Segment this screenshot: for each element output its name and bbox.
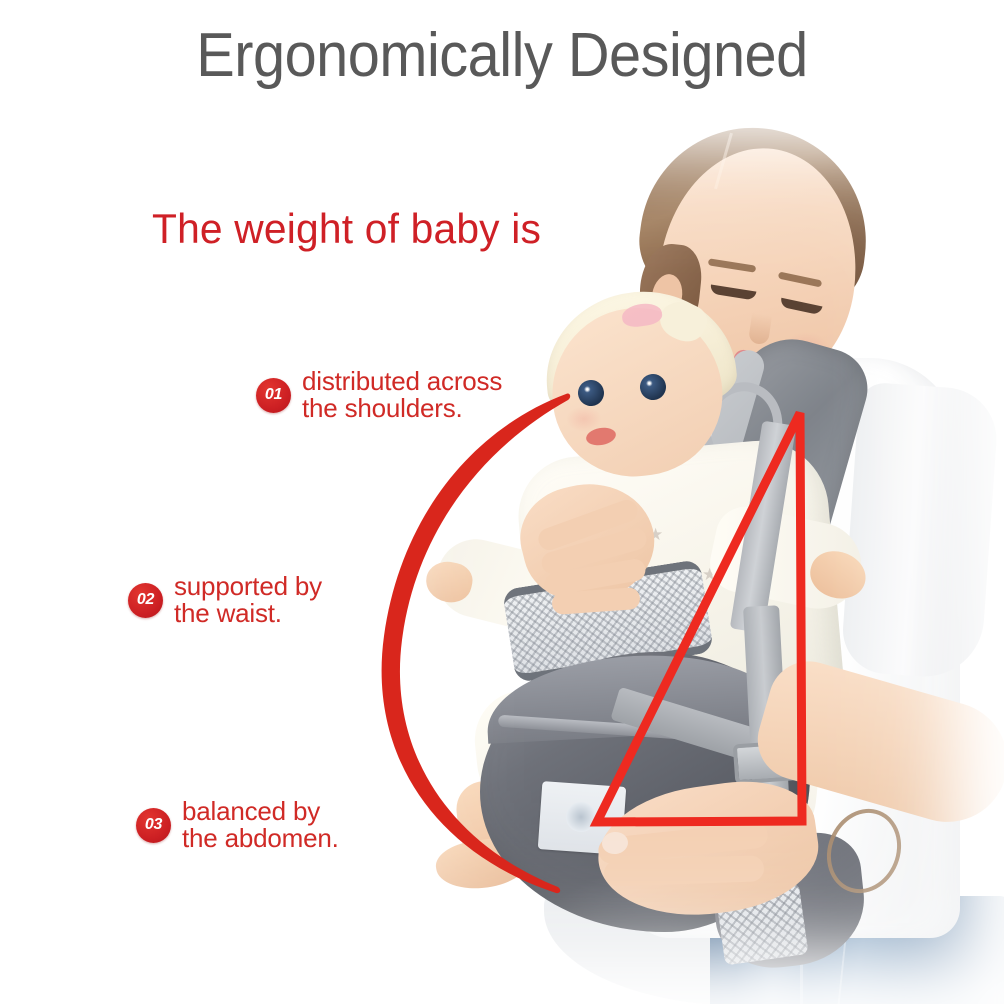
callout-line-2: the shoulders. (302, 395, 502, 422)
callout-line-2: the waist. (174, 600, 322, 627)
callout-line-1: supported by (174, 573, 322, 600)
subtitle: The weight of baby is (152, 203, 541, 255)
callout-text-03: balanced by the abdomen. (182, 798, 339, 852)
callout-badge-02: 02 (128, 583, 163, 618)
callout-text-02: supported by the waist. (174, 573, 322, 627)
callout-line-2: the abdomen. (182, 825, 339, 852)
callout-03: 03 balanced by the abdomen. (136, 798, 339, 852)
callout-badge-01: 01 (256, 378, 291, 413)
product-feature-image: ★ ★ ★ ★ ★ ★ ★ ★ ★ (0, 0, 1004, 1004)
callout-badge-03: 03 (136, 808, 171, 843)
callout-line-1: distributed across (302, 368, 502, 395)
tshirt-sleeve-right (840, 381, 1000, 680)
callout-text-01: distributed across the shoulders. (302, 368, 502, 422)
callout-01: 01 distributed across the shoulders. (256, 368, 502, 422)
callout-line-1: balanced by (182, 798, 339, 825)
callout-02: 02 supported by the waist. (128, 573, 322, 627)
page-title: Ergonomically Designed (35, 20, 969, 92)
